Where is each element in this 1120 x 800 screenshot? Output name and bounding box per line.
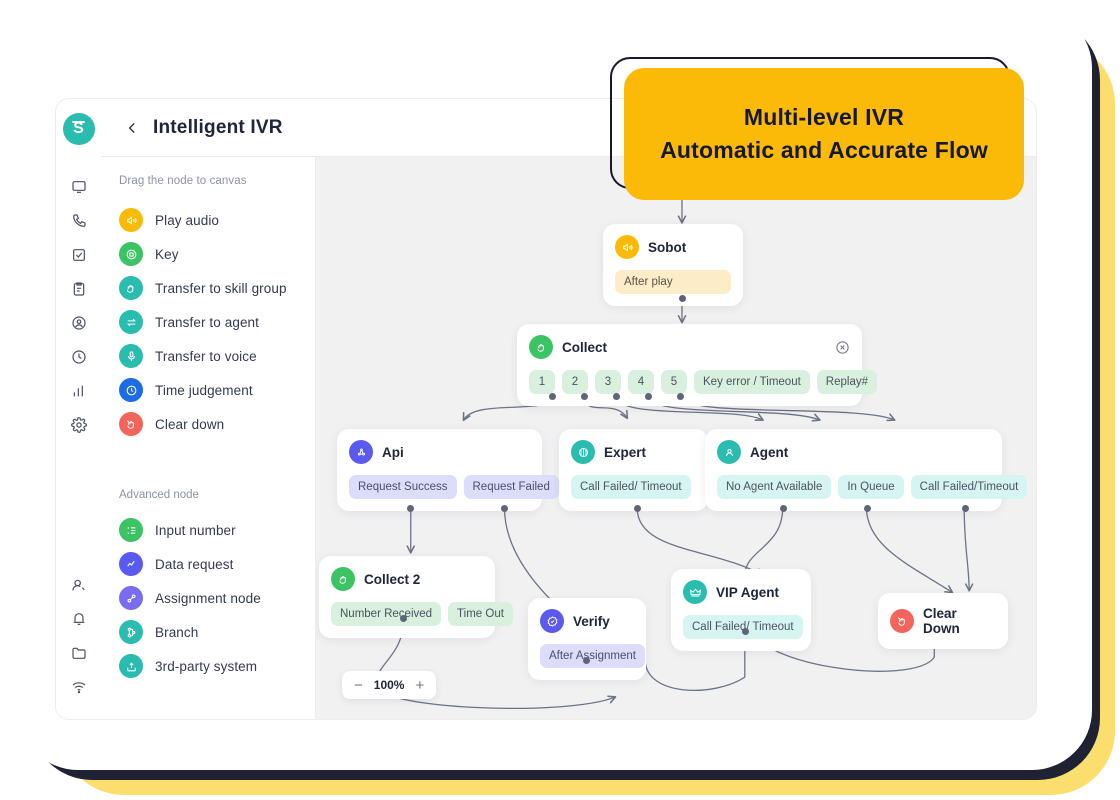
flow-node-verify[interactable]: Verify After Assignment — [528, 598, 646, 680]
node-header: Verify — [540, 609, 634, 633]
palette-hint: Drag the node to canvas — [119, 175, 315, 187]
back-button[interactable] — [123, 119, 141, 137]
chip-time-out[interactable]: Time Out — [448, 602, 513, 626]
node-title: Api — [382, 445, 404, 460]
chip-number-received[interactable]: Number Received — [331, 602, 441, 626]
node-header: Expert — [571, 440, 696, 464]
node-title: Collect — [562, 340, 607, 355]
node-chips: Number Received Time Out — [331, 602, 483, 626]
node-header: VIP Agent — [683, 580, 799, 604]
hand-tap-icon — [331, 567, 355, 591]
connector-dot — [679, 295, 686, 302]
palette-item-label: Assignment node — [155, 591, 261, 606]
flow-node-vip-agent[interactable]: VIP Agent Call Failed/ Timeout — [671, 569, 811, 651]
brain-icon — [571, 440, 595, 464]
chip-key-4[interactable]: 4 — [628, 370, 654, 394]
palette-item-transfer-to-agent[interactable]: Transfer to agent — [119, 305, 315, 339]
palette-item-label: Play audio — [155, 213, 219, 228]
node-chips: 1 2 3 4 5 Key error / Timeout Replay# — [529, 370, 850, 394]
palette-item-label: Transfer to voice — [155, 349, 257, 364]
verified-badge-icon — [540, 609, 564, 633]
node-header: Clear Down — [890, 606, 996, 636]
connector-dot — [864, 505, 871, 512]
callout-line-2: Automatic and Accurate Flow — [660, 137, 988, 164]
upload-box-icon — [119, 654, 143, 678]
chip-key-3[interactable]: 3 — [595, 370, 621, 394]
hand-tap-icon — [529, 335, 553, 359]
gear-icon[interactable] — [65, 411, 93, 439]
flow-node-agent[interactable]: Agent No Agent Available In Queue Call F… — [705, 429, 1002, 511]
brand-logo-letter: S — [73, 120, 84, 138]
palette-item-3rd-party-system[interactable]: 3rd-party system — [119, 649, 315, 683]
crown-icon — [683, 580, 707, 604]
palette-item-transfer-to-voice[interactable]: Transfer to voice — [119, 339, 315, 373]
bar-chart-icon[interactable] — [65, 377, 93, 405]
zoom-in-button[interactable]: + — [415, 678, 424, 693]
node-title: Clear Down — [923, 606, 996, 636]
chip-key-error-timeout[interactable]: Key error / Timeout — [694, 370, 810, 394]
node-chips: After play — [615, 270, 731, 294]
chip-call-failed-timeout[interactable]: Call Failed/Timeout — [911, 475, 1028, 499]
node-chips: Request Success Request Failed — [349, 475, 530, 499]
chip-in-queue[interactable]: In Queue — [838, 475, 903, 499]
connector-dot — [645, 393, 652, 400]
chip-after-play[interactable]: After play — [615, 270, 731, 294]
icon-rail: S — [56, 99, 101, 719]
node-header: Sobot — [615, 235, 731, 259]
chip-after-assignment[interactable]: After Assignment — [540, 644, 645, 668]
list-number-icon — [119, 518, 143, 542]
hand-group-icon — [119, 276, 143, 300]
chip-request-success[interactable]: Request Success — [349, 475, 457, 499]
hangup-hand-icon — [890, 609, 914, 633]
user-circle-icon[interactable] — [65, 309, 93, 337]
palette-item-branch[interactable]: Branch — [119, 615, 315, 649]
palette-item-label: Key — [155, 247, 179, 262]
node-chips: After Assignment — [540, 644, 634, 668]
node-header: Collect — [529, 335, 850, 359]
flow-node-expert[interactable]: Expert Call Failed/ Timeout — [559, 429, 708, 511]
palette-item-assignment-node[interactable]: Assignment node — [119, 581, 315, 615]
callout-line-1: Multi-level IVR — [744, 104, 904, 131]
palette-item-time-judgement[interactable]: Time judgement — [119, 373, 315, 407]
palette-basic-list: Play audio Key Transfer to skill group — [119, 203, 315, 441]
palette-item-label: Time judgement — [155, 383, 253, 398]
checkbox-icon[interactable] — [65, 241, 93, 269]
folder-icon[interactable] — [65, 639, 93, 667]
connector-dot — [742, 628, 749, 635]
flow-node-collect2[interactable]: Collect 2 Number Received Time Out — [319, 556, 495, 638]
wifi-icon[interactable] — [65, 673, 93, 701]
chip-key-5[interactable]: 5 — [661, 370, 687, 394]
node-title: Collect 2 — [364, 572, 420, 587]
palette-item-label: Branch — [155, 625, 198, 640]
speaker-icon — [615, 235, 639, 259]
palette-item-label: Transfer to agent — [155, 315, 259, 330]
connector-dot — [501, 505, 508, 512]
chip-no-agent-available[interactable]: No Agent Available — [717, 475, 831, 499]
connector-dot — [583, 657, 590, 664]
clock-icon — [119, 378, 143, 402]
node-title: VIP Agent — [716, 585, 779, 600]
microphone-icon — [119, 344, 143, 368]
node-chips: Call Failed/ Timeout — [571, 475, 696, 499]
palette-item-label: Clear down — [155, 417, 224, 432]
connector-dot — [549, 393, 556, 400]
bell-icon[interactable] — [65, 605, 93, 633]
palette-item-key[interactable]: Key — [119, 237, 315, 271]
user-search-icon[interactable] — [65, 571, 93, 599]
palette-item-data-request[interactable]: Data request — [119, 547, 315, 581]
flow-node-api[interactable]: Api Request Success Request Failed — [337, 429, 542, 511]
brand-logo[interactable]: S — [63, 113, 95, 145]
node-palette: Drag the node to canvas Play audio Key — [101, 99, 316, 719]
connector-dot — [407, 505, 414, 512]
palette-item-clear-down[interactable]: Clear down — [119, 407, 315, 441]
hangup-hand-icon — [119, 412, 143, 436]
chip-call-failed-timeout[interactable]: Call Failed/ Timeout — [571, 475, 691, 499]
flow-node-collect[interactable]: Collect 1 2 3 4 5 Key error / Timeout Re… — [517, 324, 862, 406]
clock-icon[interactable] — [65, 343, 93, 371]
chart-line-icon — [119, 552, 143, 576]
transfer-arrows-icon — [119, 310, 143, 334]
palette-item-label: Transfer to skill group — [155, 281, 287, 296]
palette-item-play-audio[interactable]: Play audio — [119, 203, 315, 237]
connector-dot — [962, 505, 969, 512]
node-title: Expert — [604, 445, 646, 460]
flow-node-sobot[interactable]: Sobot After play — [603, 224, 743, 306]
palette-item-transfer-to-skill-group[interactable]: Transfer to skill group — [119, 271, 315, 305]
node-header: Api — [349, 440, 530, 464]
node-chips: Call Failed/ Timeout — [683, 615, 799, 639]
brand-logo-bar — [72, 121, 85, 123]
chip-call-failed-timeout[interactable]: Call Failed/ Timeout — [683, 615, 803, 639]
connector-dot — [677, 393, 684, 400]
clipboard-icon[interactable] — [65, 275, 93, 303]
palette-spacer — [119, 441, 315, 489]
phone-icon[interactable] — [65, 207, 93, 235]
chip-replay[interactable]: Replay# — [817, 370, 877, 394]
palette-item-label: Data request — [155, 557, 234, 572]
palette-item-input-number[interactable]: Input number — [119, 513, 315, 547]
speaker-icon — [119, 208, 143, 232]
callout-banner: Multi-level IVR Automatic and Accurate F… — [624, 68, 1024, 200]
node-chips: No Agent Available In Queue Call Failed/… — [717, 475, 990, 499]
close-icon[interactable] — [835, 340, 850, 355]
connector-dot — [400, 615, 407, 622]
chip-request-failed[interactable]: Request Failed — [464, 475, 559, 499]
chip-key-1[interactable]: 1 — [529, 370, 555, 394]
node-header: Agent — [717, 440, 990, 464]
page-title: Intelligent IVR — [153, 117, 283, 139]
node-header: Collect 2 — [331, 567, 483, 591]
connector-dot — [581, 393, 588, 400]
connector-dot — [634, 505, 641, 512]
api-icon — [349, 440, 373, 464]
connector-dot — [780, 505, 787, 512]
connector-dot — [613, 393, 620, 400]
node-title: Agent — [750, 445, 788, 460]
keypad-icon — [119, 242, 143, 266]
palette-advanced-list: Input number Data request Assignment nod… — [119, 513, 315, 683]
page-root: S — [0, 0, 1120, 800]
zoom-level-value: 100% — [374, 678, 405, 692]
node-title: Sobot — [648, 240, 686, 255]
node-title: Verify — [573, 614, 610, 629]
branch-icon — [119, 620, 143, 644]
palette-advanced-title: Advanced node — [119, 489, 315, 501]
palette-item-label: 3rd-party system — [155, 659, 257, 674]
zoom-control[interactable]: − 100% + — [342, 671, 436, 699]
user-icon — [717, 440, 741, 464]
link-node-icon — [119, 586, 143, 610]
palette-item-label: Input number — [155, 523, 236, 538]
zoom-out-button[interactable]: − — [354, 678, 363, 693]
flow-node-clear-down[interactable]: Clear Down — [878, 593, 1008, 649]
chip-key-2[interactable]: 2 — [562, 370, 588, 394]
monitor-icon[interactable] — [65, 173, 93, 201]
